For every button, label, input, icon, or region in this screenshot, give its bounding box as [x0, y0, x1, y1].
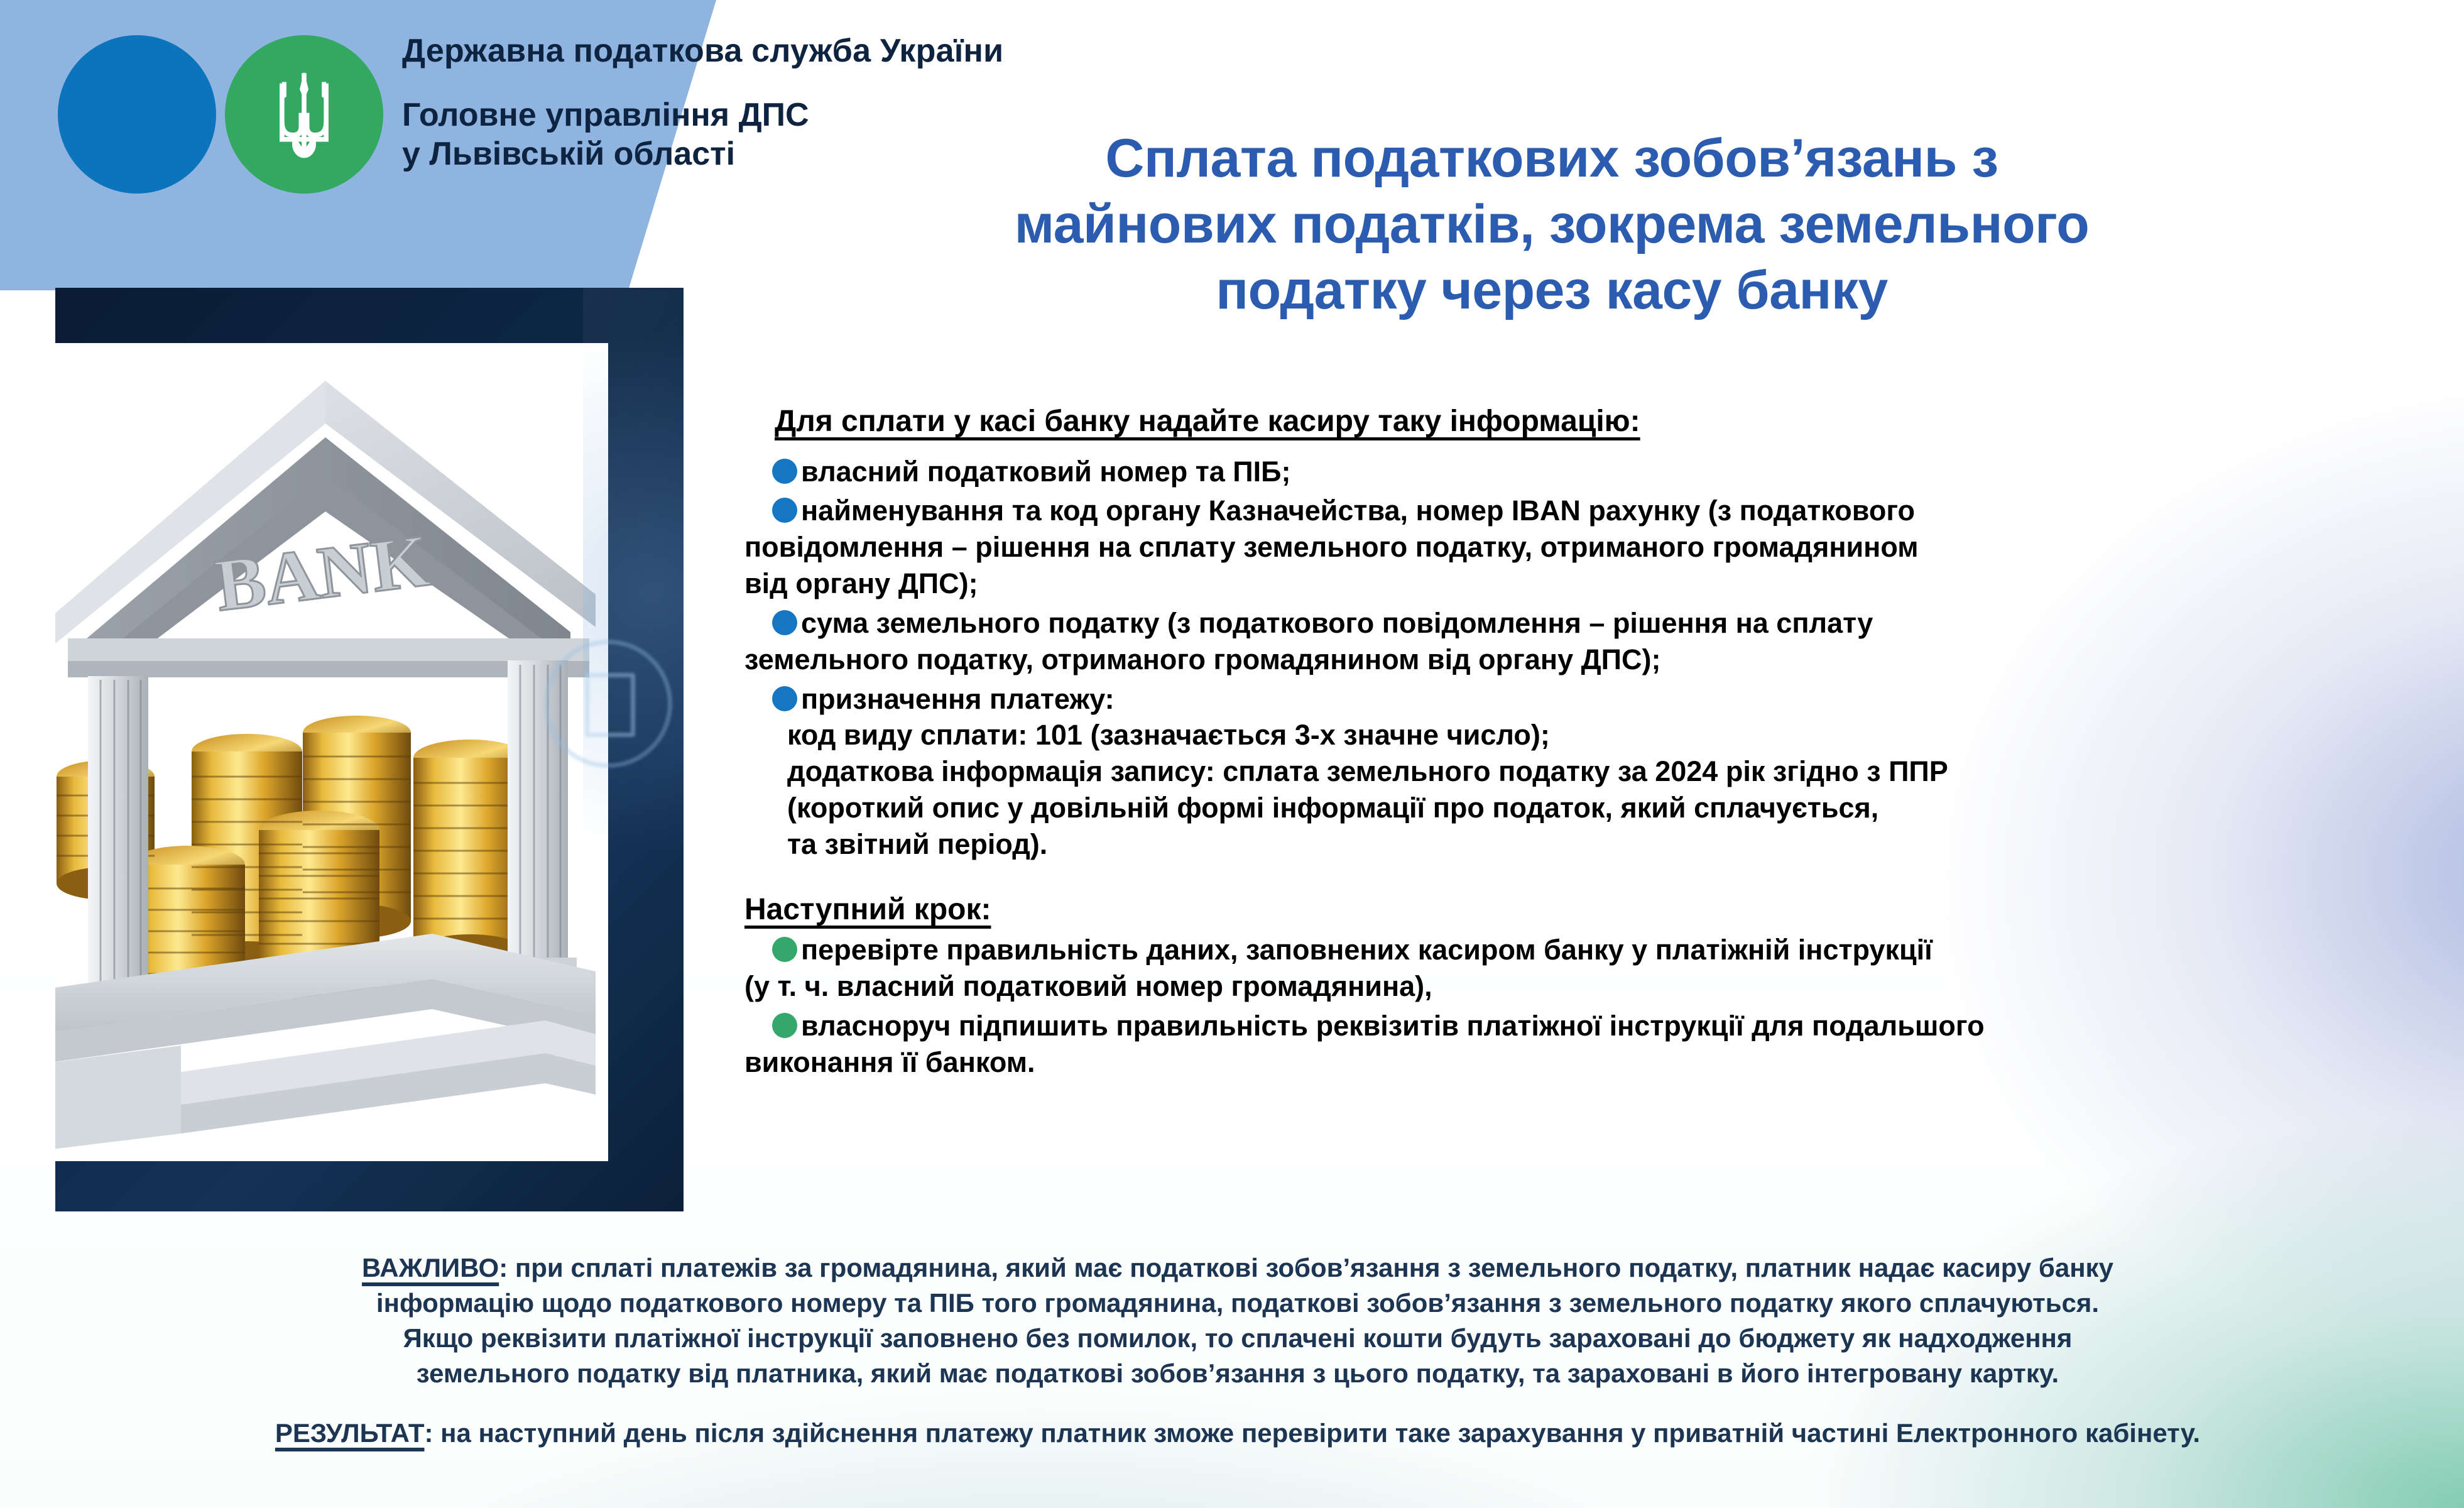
important-note-line-4: земельного податку від платника, який ма… — [44, 1356, 2431, 1391]
document-circle-icon — [544, 640, 672, 768]
important-note-line-3: Якщо реквізити платіжної інструкції запо… — [44, 1321, 2431, 1356]
list-item-line: земельного податку, отриманого громадяни… — [744, 642, 2353, 678]
bullet-dot-blue-icon — [772, 459, 797, 484]
list-item: власний податковий номер та ПІБ; — [744, 454, 2353, 490]
important-note-line-2: інформацію щодо податкового номеру та ПІ… — [44, 1286, 2431, 1321]
bank-building-photo: BANK — [55, 343, 608, 1161]
list-item-subline: код виду сплати: 101 (зазначається 3-х з… — [787, 717, 2353, 753]
org-title-line-1: Державна податкова служба України — [402, 33, 1003, 70]
bullet-dot-blue-icon — [772, 686, 797, 711]
bank-photo-frame: BANK — [55, 288, 684, 1211]
important-note-text-1: : при сплаті платежів за громадянина, як… — [499, 1253, 2113, 1282]
dps-logo — [58, 35, 383, 194]
list-item-line: виконання її банком. — [744, 1044, 2353, 1081]
list-item-line: перевірте правильність даних, заповнених… — [801, 934, 1932, 966]
instructions-content: Для сплати у касі банку надайте касиру т… — [744, 402, 2353, 1081]
bullet-dot-blue-icon — [772, 498, 797, 523]
bullet-list-blue: власний податковий номер та ПІБ; наймену… — [744, 454, 2353, 863]
result-note-text: : на наступний день після здійснення пла… — [425, 1418, 2201, 1448]
list-item: сума земельного податку (з податкового п… — [744, 605, 2353, 678]
bullet-list-green: перевірте правильність даних, заповнених… — [744, 932, 2353, 1080]
list-item-subline: додаткова інформація запису: сплата земе… — [787, 753, 2353, 790]
bullet-dot-green-icon — [772, 937, 797, 962]
list-item-line: сума земельного податку (з податкового п… — [801, 607, 1873, 639]
bullet-dot-blue-icon — [772, 610, 797, 635]
important-note-line-1: ВАЖЛИВО: при сплаті платежів за громадян… — [44, 1250, 2431, 1286]
section-1-heading: Для сплати у касі банку надайте касиру т… — [775, 402, 1640, 441]
list-item: призначення платежу: код виду сплати: 10… — [744, 681, 2353, 863]
section-1: Для сплати у касі банку надайте касиру т… — [744, 402, 2353, 863]
page-title-line-1: Сплата податкових зобов’язань з — [836, 126, 2268, 192]
list-item-line: призначення платежу: — [801, 683, 1115, 715]
logo-blue-circle — [58, 35, 216, 194]
bullet-dot-green-icon — [772, 1013, 797, 1038]
result-note: РЕЗУЛЬТАТ: на наступний день після здійс… — [44, 1416, 2431, 1451]
bank-building-illustration: BANK — [55, 343, 608, 1161]
result-label: РЕЗУЛЬТАТ — [275, 1418, 425, 1448]
list-item: власноруч підпишить правильність реквізи… — [744, 1008, 2353, 1081]
list-item: перевірте правильність даних, заповнених… — [744, 932, 2353, 1005]
list-item-line: (у т. ч. власний податковий номер громад… — [744, 968, 2353, 1005]
list-item-subline: та звітний період). — [787, 826, 2353, 863]
logo-green-circle — [225, 35, 383, 194]
list-item: найменування та код органу Казначейства,… — [744, 493, 2353, 601]
section-2-heading: Наступний крок: — [744, 890, 991, 929]
page-title: Сплата податкових зобов’язань з майнових… — [836, 126, 2268, 324]
list-item-line: найменування та код органу Казначейства,… — [801, 494, 1915, 527]
list-item-line: від органу ДПС); — [744, 565, 2353, 602]
important-label: ВАЖЛИВО — [362, 1253, 499, 1282]
list-item-line: власний податковий номер та ПІБ; — [801, 456, 1290, 488]
list-item-line: повідомлення – рішення на сплату земельн… — [744, 529, 2353, 565]
footer-notes: ВАЖЛИВО: при сплаті платежів за громадян… — [44, 1250, 2431, 1451]
section-2: Наступний крок: перевірте правильність д… — [744, 863, 2353, 1081]
list-item-line: власноруч підпишить правильність реквізи… — [801, 1010, 1985, 1042]
page-title-line-2: майнових податків, зокрема земельного — [836, 192, 2268, 258]
ukraine-trident-icon — [267, 67, 341, 161]
list-item-subline: (короткий опис у довільній формі інформа… — [787, 790, 2353, 826]
page-title-line-3: податку через касу банку — [836, 258, 2268, 324]
